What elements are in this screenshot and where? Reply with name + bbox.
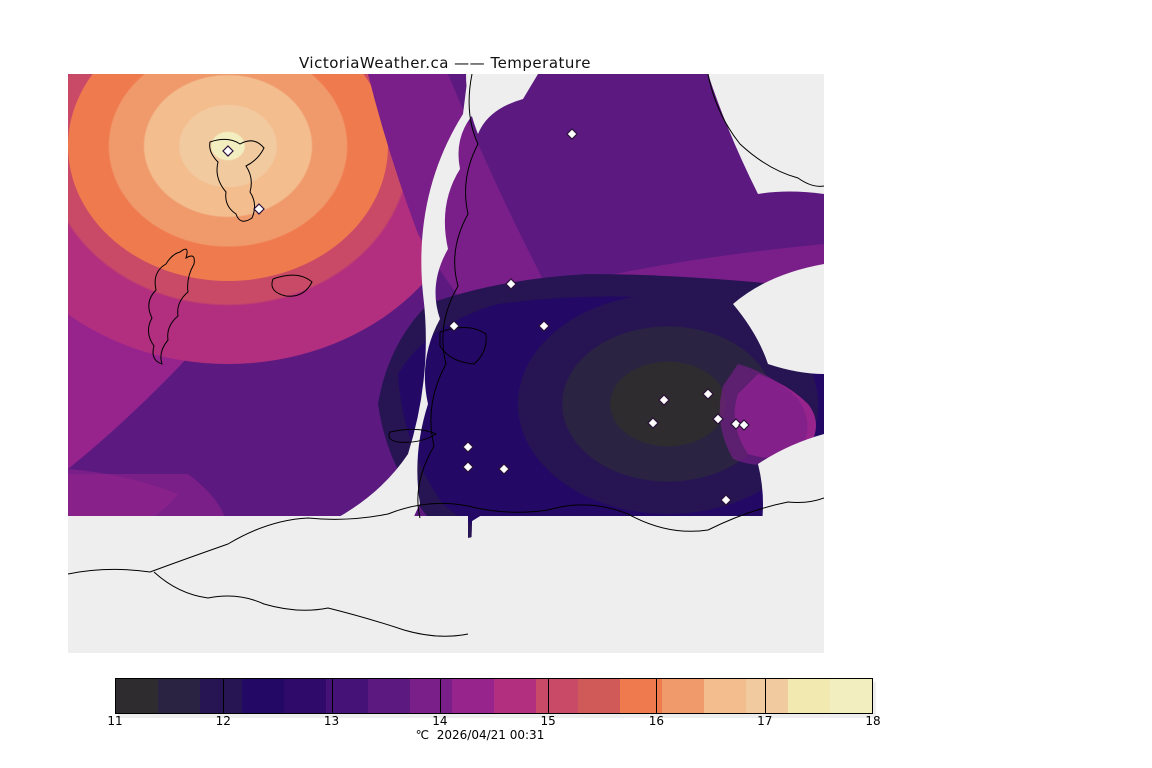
colorbar-swatch-4 <box>284 679 326 713</box>
colorbar-swatch-16 <box>788 679 830 713</box>
colorbar-tick-label-16: 16 <box>649 714 664 728</box>
colorbar-swatch-5 <box>326 679 368 713</box>
colorbar-tick-label-18: 18 <box>865 714 880 728</box>
colorbar-tick-label-13: 13 <box>324 714 339 728</box>
colorbar-swatch-1 <box>158 679 200 713</box>
colorbar-swatch-0 <box>116 679 158 713</box>
page-title: VictoriaWeather.ca —— Temperature <box>0 54 890 72</box>
colorbar-swatch-15 <box>746 679 788 713</box>
colorbar-tick-label-12: 12 <box>216 714 231 728</box>
colorbar-tick-label-17: 17 <box>757 714 772 728</box>
colorbar-swatch-7 <box>410 679 452 713</box>
colorbar-strip <box>115 678 873 714</box>
colorbar-tick-label-15: 15 <box>541 714 556 728</box>
colorbar-swatch-11 <box>578 679 620 713</box>
colorbar-swatch-6 <box>368 679 410 713</box>
colorbar-swatch-8 <box>452 679 494 713</box>
colorbar <box>115 678 873 714</box>
map-canvas <box>68 74 824 653</box>
colorbar-swatch-3 <box>242 679 284 713</box>
colorbar-caption: ℃ 2026/04/21 00:31 <box>0 728 960 742</box>
colorbar-tick-label-14: 14 <box>432 714 447 728</box>
colorbar-swatch-2 <box>200 679 242 713</box>
colorbar-swatch-12 <box>620 679 662 713</box>
colorbar-swatch-17 <box>830 679 872 713</box>
colorbar-swatch-14 <box>704 679 746 713</box>
colorbar-swatch-9 <box>494 679 536 713</box>
colorbar-swatch-13 <box>662 679 704 713</box>
colorbar-tick-label-11: 11 <box>107 714 122 728</box>
land-bottom-left <box>68 516 468 653</box>
temperature-map[interactable] <box>68 74 824 653</box>
colorbar-swatch-10 <box>536 679 578 713</box>
